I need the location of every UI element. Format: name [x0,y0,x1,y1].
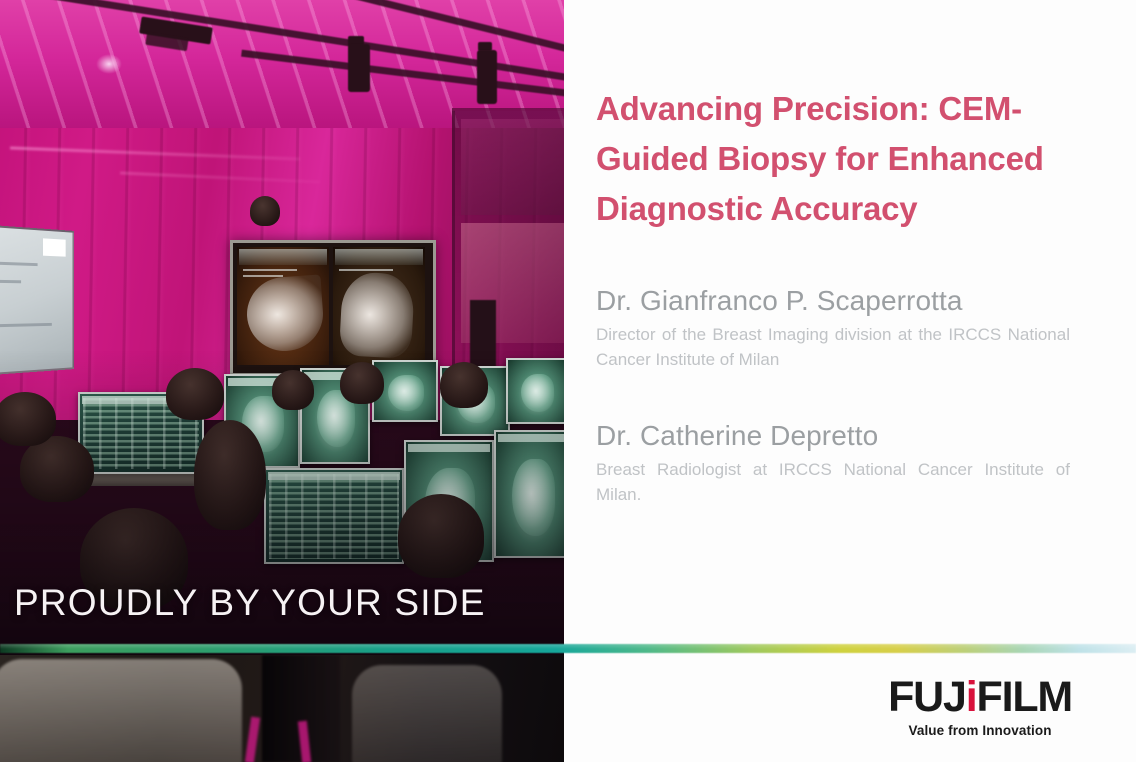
photo-chair-back [0,659,242,762]
brand-tagline: PROUDLY BY YOUR SIDE [14,582,486,624]
photo-mammogram-label [339,269,393,271]
speaker-block-1: Dr. Gianfranco P. Scaperrotta Director o… [596,284,1070,372]
speaker-role: Director of the Breast Imaging division … [596,322,1070,372]
logo-accent-i: i [966,673,977,721]
photo-attendee [440,362,488,408]
photo-mammogram-image [237,247,329,365]
photo-screen-line [0,279,21,284]
photo-monitor-toolbar [498,434,564,442]
photo-mammogram-label [243,269,297,271]
presentation-slide: PROUDLY BY YOUR SIDE Advancing Precision… [0,0,1136,762]
photo-magenta-highlight [245,717,260,762]
photo-monitor-toolbar [408,444,490,452]
photo-chair-back [352,665,502,762]
photo-monitor-scan-image [521,374,555,412]
photo-workstation-monitor [506,358,564,424]
photo-hanging-speaker [477,50,497,104]
photo-mammogram-image [333,247,425,365]
photo-mammogram-tissue [245,274,326,353]
photo-mammogram-header [335,249,423,265]
gradient-divider-bar [0,644,1136,653]
photo-attendee [194,420,266,530]
photo-workstation-monitor [264,468,404,564]
speaker-name: Dr. Gianfranco P. Scaperrotta [596,284,1070,318]
photo-attendee [166,368,224,420]
photo-attendee [272,370,314,410]
speaker-name: Dr. Catherine Depretto [596,419,1070,453]
fujifilm-wordmark: FUJiFILM [888,676,1072,719]
photo-left-projection-screen [0,220,74,379]
photo-mammogram-header [239,249,327,265]
photo-workstation-monitor [494,430,564,558]
photo-screen-line [0,259,38,266]
photo-mammogram-tissue [339,271,415,359]
photo-presenter [250,196,280,226]
logo-text-part1: FUJ [888,673,966,721]
photo-monitor-scan-image [388,375,424,411]
speaker-role: Breast Radiologist at IRCCS National Can… [596,457,1070,507]
photo-main-display [230,240,436,376]
photo-monitor-data-columns [269,474,399,559]
photo-spotlight-glow [96,54,122,74]
photo-screen-line [0,323,52,329]
photo-attendee [398,494,484,578]
photo-screen-badge [43,238,66,256]
photo-window-pane [461,119,564,215]
fujifilm-slogan: Value from Innovation [888,724,1072,738]
photo-monitor-scan-image [512,459,555,536]
photo-attendee [0,392,56,446]
slide-title: Advancing Precision: CEM-Guided Biopsy f… [596,84,1064,234]
fujifilm-logo: FUJiFILM Value from Innovation [888,676,1072,738]
photo-hanging-speaker [348,44,370,92]
photo-foreground [0,655,564,762]
logo-text-part2: FILM [977,673,1073,721]
speaker-block-2: Dr. Catherine Depretto Breast Radiologis… [596,419,1070,507]
photo-monitor-toolbar [268,472,400,480]
photo-attendee [340,362,384,404]
